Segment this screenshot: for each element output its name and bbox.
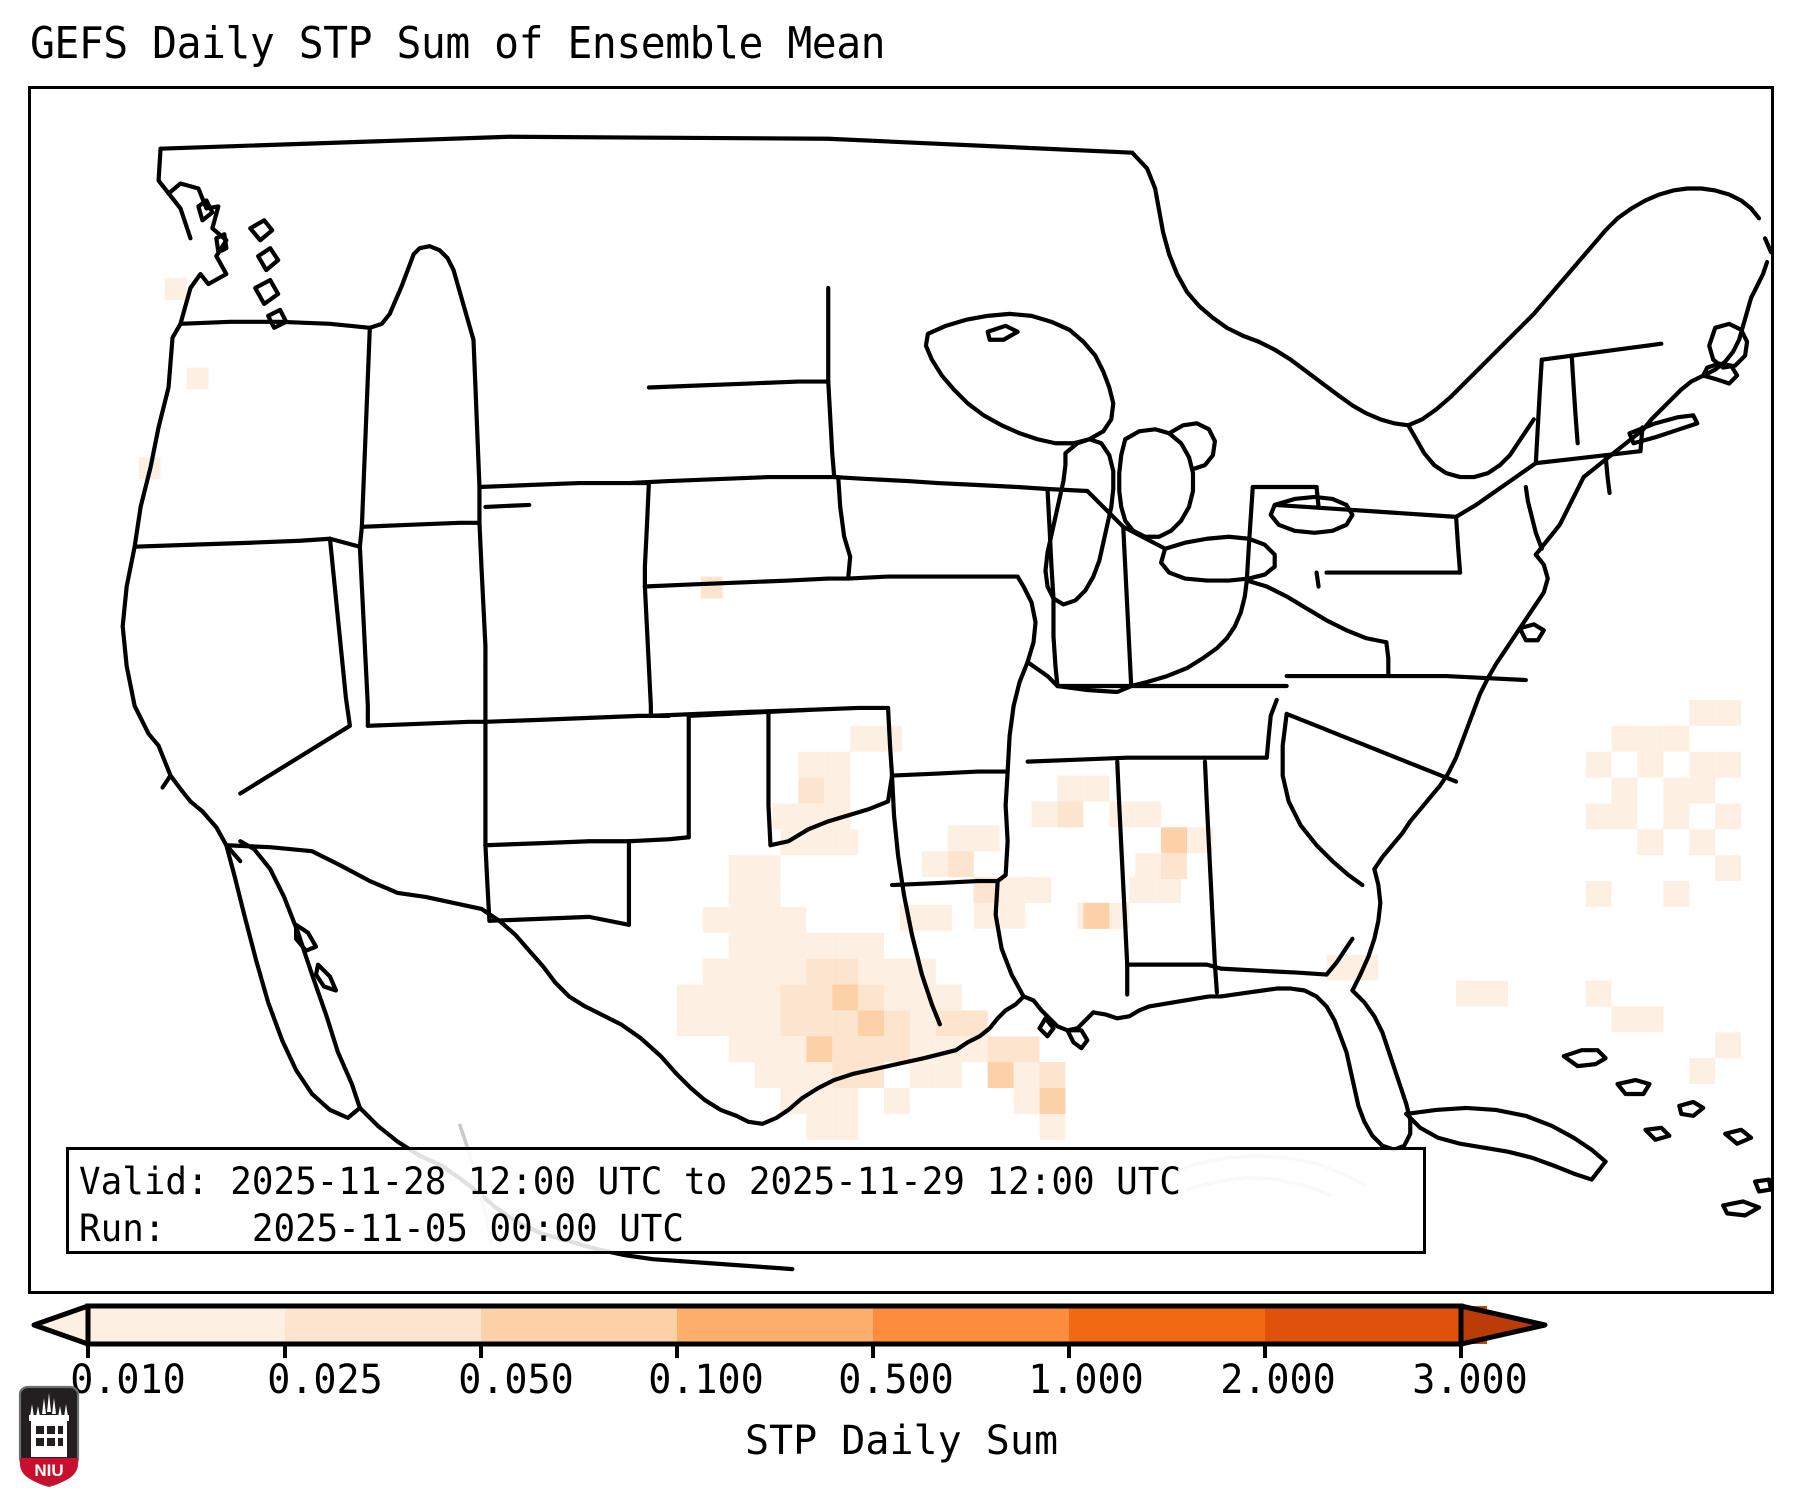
cbar-tick-7: 3.000 [1412,1358,1528,1402]
colorbar-extend-high [1461,1306,1545,1344]
valid-time-line: Valid: 2025-11-28 12:00 UTC to 2025-11-2… [79,1158,1383,1205]
info-box: Valid: 2025-11-28 12:00 UTC to 2025-11-2… [66,1147,1426,1254]
heatmap-data-layer [139,278,1741,1140]
colorbar-axis-label: STP Daily Sum [0,1418,1803,1464]
niu-logo: NIU [16,1384,82,1488]
cbar-tick-5: 1.000 [1028,1358,1144,1402]
cbar-tick-6: 2.000 [1220,1358,1336,1402]
cbar-tick-2: 0.050 [458,1358,574,1402]
cbar-tick-4: 0.500 [838,1358,954,1402]
colorbar-tick-labels: 0.010 0.025 0.050 0.100 0.500 1.000 2.00… [0,1358,1803,1408]
colorbar-extend-low [34,1306,88,1344]
map-axes[interactable]: Valid: 2025-11-28 12:00 UTC to 2025-11-2… [28,86,1774,1294]
cbar-tick-3: 0.100 [648,1358,764,1402]
colorbar-canvas [0,1298,1803,1358]
map-geography-layer [123,137,1771,1269]
niu-logo-svg: NIU [16,1384,82,1488]
colorbar-segments [88,1306,1487,1344]
niu-banner-text: NIU [34,1461,63,1480]
page-title: GEFS Daily STP Sum of Ensemble Mean [30,18,885,70]
run-time-line: Run: 2025-11-05 00:00 UTC [79,1205,1383,1252]
weather-map-figure: GEFS Daily STP Sum of Ensemble Mean [0,0,1803,1500]
map-canvas [31,89,1771,1291]
cbar-tick-0: 0.010 [70,1358,186,1402]
cbar-tick-1: 0.025 [267,1358,383,1402]
colorbar[interactable] [0,1298,1803,1358]
